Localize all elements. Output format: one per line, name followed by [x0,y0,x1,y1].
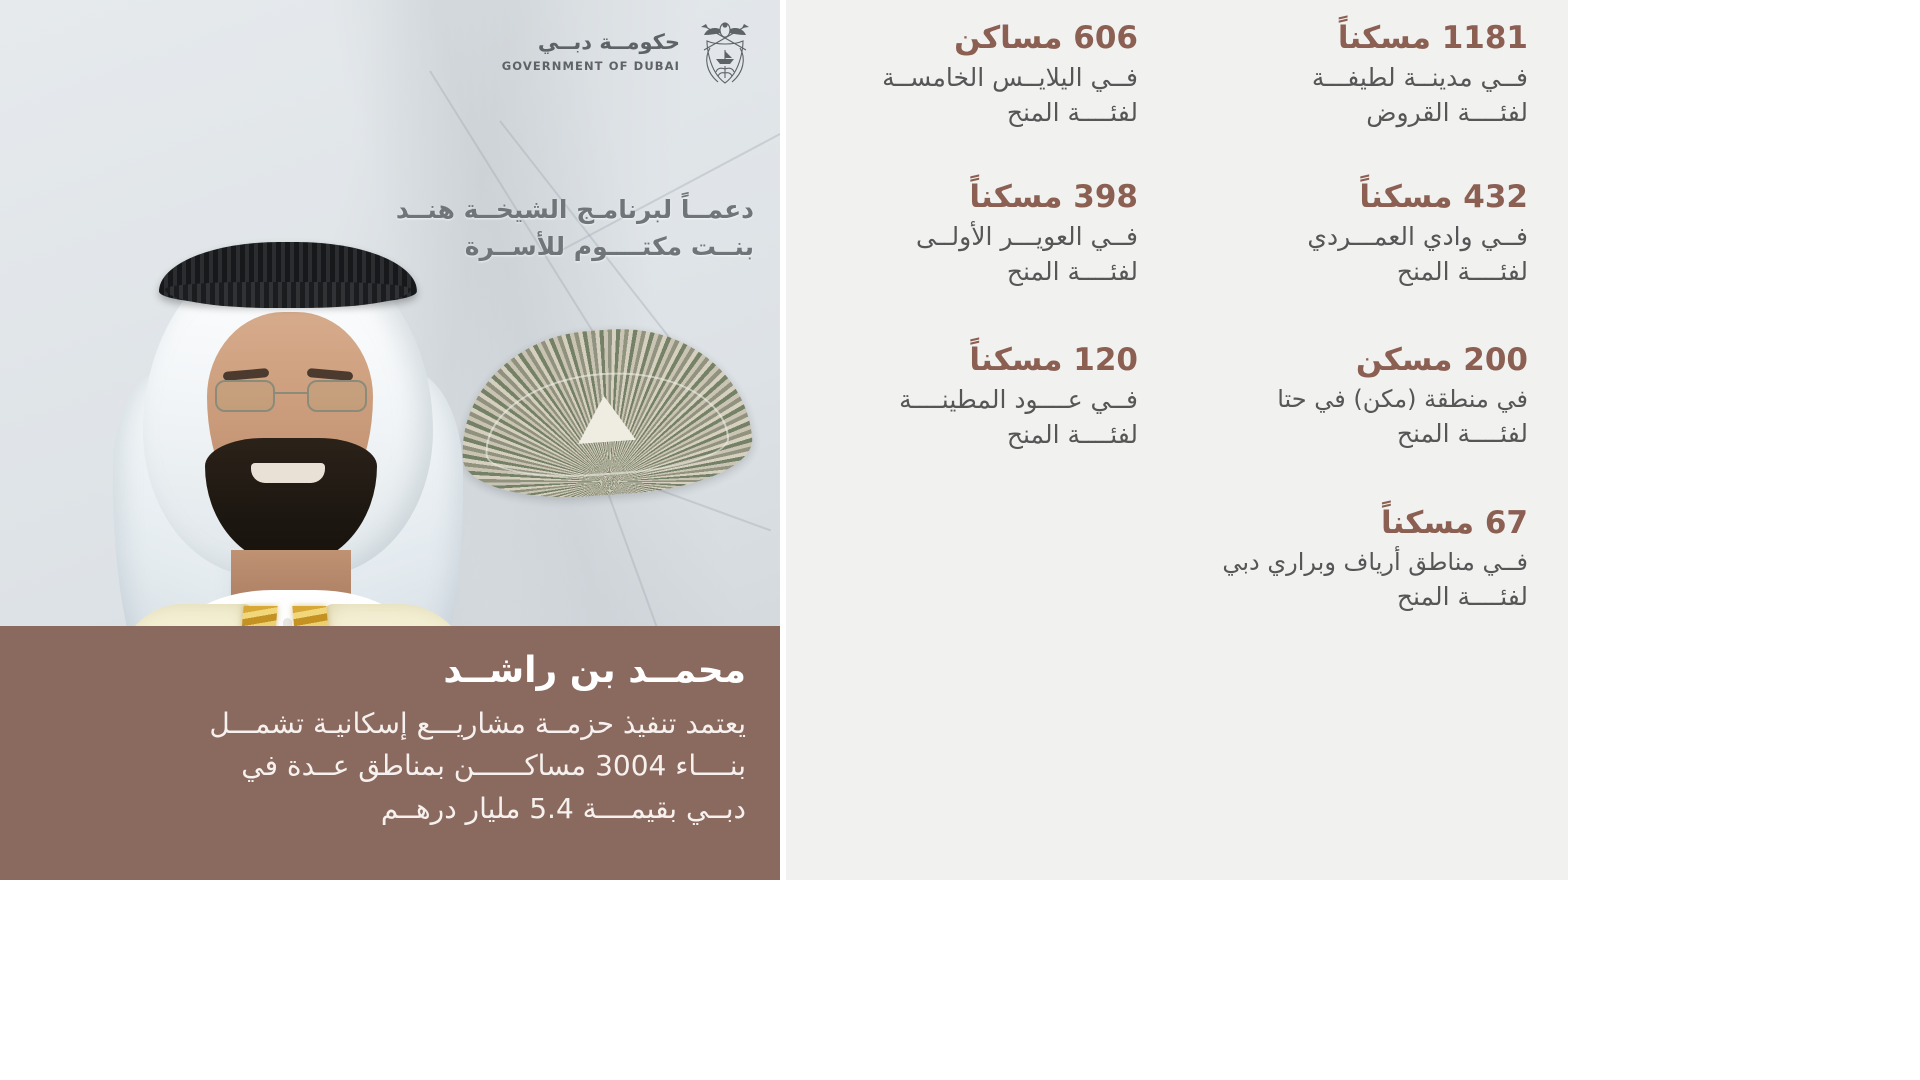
stat-count: 1181 مسكناً [1178,18,1528,60]
stats-column-left: 606 مساكن فــي اليلايــس الخامســة لفئــ… [788,0,1138,499]
government-of-dubai-logo: حكومــة دبــي GOVERNMENT OF DUBAI [502,14,756,90]
stat-category: لفئــــة المنح [788,417,1138,453]
photo-headline: دعمــاً لبرنامـج الشيخــة هنــد بنــت مك… [334,192,754,265]
stat-block: 67 مسكناً فــي مناطق أرياف وبراري دبي لف… [1178,503,1528,614]
stat-category: لفئــــة القروض [1178,95,1528,131]
caption-line-1: يعتمد تنفيذ حزمــة مشاريـــع إسكانيـة تش… [34,703,746,746]
caption-panel: محمــد بن راشــد يعتمد تنفيذ حزمــة مشار… [0,626,780,880]
glasses-bridge [275,392,307,394]
stat-block: 1181 مسكناً فــي مدينــة لطيفـــة لفئـــ… [1178,18,1528,131]
stat-category: لفئــــة المنح [788,95,1138,131]
stat-location: فــي العويـــر الأولــى [788,219,1138,255]
infographic-canvas: حكومــة دبــي GOVERNMENT OF DUBAI [0,0,1568,880]
stat-block: 398 مسكناً فــي العويـــر الأولــى لفئــ… [788,177,1138,290]
stat-block: 120 مسكناً فــي عــــود المطينــــة لفئـ… [788,340,1138,453]
stat-location: فــي مدينــة لطيفـــة [1178,60,1528,96]
stat-location: فــي اليلايــس الخامســة [788,60,1138,96]
stat-category: لفئــــة المنح [1178,579,1528,615]
caption-line-2: بنــــاء 3004 مساكــــــن بمناطق عــدة ف… [34,745,746,788]
stat-block: 432 مسكناً فــي وادي العمـــردي لفئــــة… [1178,177,1528,290]
government-of-dubai-wordmark: حكومــة دبــي GOVERNMENT OF DUBAI [502,30,680,75]
stat-category: لفئــــة المنح [788,254,1138,290]
lens-left [215,380,275,412]
logo-english-text: GOVERNMENT OF DUBAI [502,59,680,73]
stat-location: فــي عــــود المطينــــة [788,382,1138,418]
page-bottom-margin [0,880,1568,1080]
photo-headline-line-2: بنــت مكتــــوم للأســرة [334,229,754,266]
photo-headline-line-1: دعمــاً لبرنامـج الشيخــة هنــد [334,192,754,229]
stat-count: 398 مسكناً [788,177,1138,219]
panel-divider [780,0,786,880]
photo-panel: حكومــة دبــي GOVERNMENT OF DUBAI [0,0,780,880]
stats-column-right: 1181 مسكناً فــي مدينــة لطيفـــة لفئـــ… [1178,0,1528,661]
stat-location: فــي مناطق أرياف وبراري دبي [1178,545,1528,579]
stat-count: 67 مسكناً [1178,503,1528,545]
infographic-page: حكومــة دبــي GOVERNMENT OF DUBAI [0,0,1920,1080]
stat-location: في منطقة (مكن) في حتا [1178,382,1528,416]
stat-category: لفئــــة المنح [1178,416,1528,452]
dubai-government-emblem-icon [694,14,756,90]
lens-right [307,380,367,412]
caption-line-3: دبــي بقيمــــة 5.4 مليار درهــم [34,788,746,831]
stat-block: 606 مساكن فــي اليلايــس الخامســة لفئــ… [788,18,1138,131]
stat-category: لفئــــة المنح [1178,254,1528,290]
stat-location: فــي وادي العمـــردي [1178,219,1528,255]
stat-count: 120 مسكناً [788,340,1138,382]
stat-count: 200 مسكن [1178,340,1528,382]
statistics-panel: 1181 مسكناً فــي مدينــة لطيفـــة لفئـــ… [780,0,1568,880]
caption-title: محمــد بن راشــد [34,648,746,695]
page-right-margin [1568,0,1920,1080]
stat-count: 606 مساكن [788,18,1138,60]
stat-block: 200 مسكن في منطقة (مكن) في حتا لفئــــة … [1178,340,1528,451]
mouth [251,463,325,483]
logo-arabic-text: حكومــة دبــي [538,30,680,54]
eyeglasses [213,380,369,414]
stat-count: 432 مسكناً [1178,177,1528,219]
